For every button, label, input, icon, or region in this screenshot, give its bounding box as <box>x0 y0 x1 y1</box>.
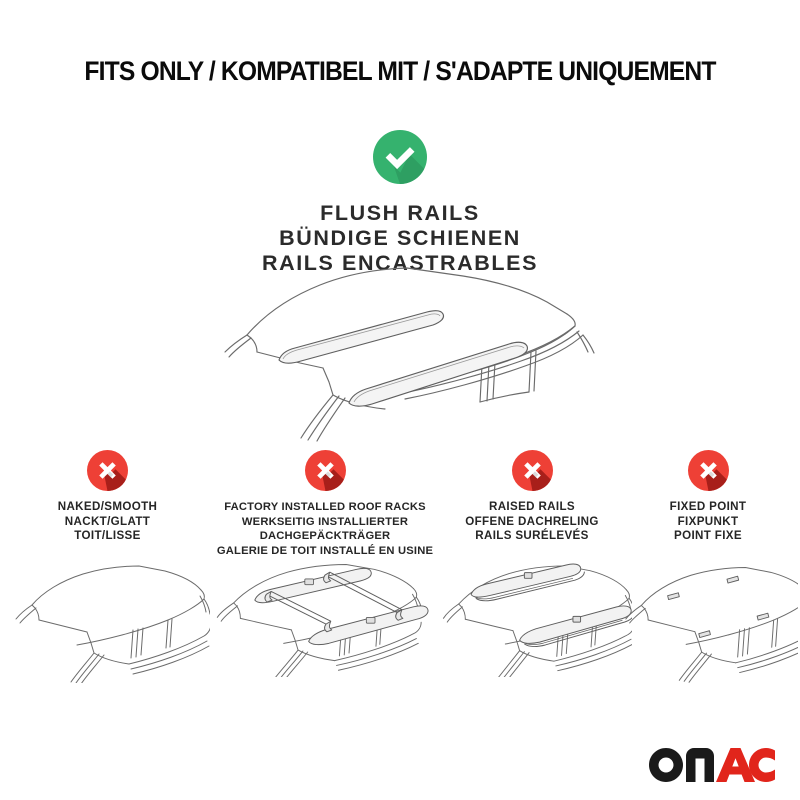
page-title: FITS ONLY / KOMPATIBEL MIT / S'ADAPTE UN… <box>28 56 772 87</box>
car-roof-naked-smooth-illustration <box>5 558 210 683</box>
infographic-page: FITS ONLY / KOMPATIBEL MIT / S'ADAPTE UN… <box>0 0 800 800</box>
compatible-label-de: BÜNDIGE SCHIENEN <box>0 226 800 251</box>
omac-logo: OMAC <box>648 747 776 783</box>
label-fr: TOIT/LISSE <box>5 529 210 544</box>
label-de: OFFENE DACHRELING <box>432 515 632 530</box>
incompatible-item-fixed-point: FIXED POINT FIXPUNKT POINT FIXE <box>618 450 798 544</box>
label-en: FACTORY INSTALLED ROOF RACKS <box>200 500 450 515</box>
incompatible-item-naked-smooth: NAKED/SMOOTH NACKT/GLATT TOIT/LISSE <box>5 450 210 544</box>
label-fr: RAILS SURÉLEVÉS <box>432 529 632 544</box>
label-en: RAISED RAILS <box>432 500 632 515</box>
incompatible-labels: FACTORY INSTALLED ROOF RACKS WERKSEITIG … <box>200 500 450 558</box>
label-de: NACKT/GLATT <box>5 515 210 530</box>
check-circle-icon <box>373 130 427 184</box>
compatible-label-en: FLUSH RAILS <box>0 201 800 226</box>
x-circle-icon <box>688 450 729 491</box>
car-roof-fixed-point-illustration <box>618 558 798 683</box>
incompatible-labels: NAKED/SMOOTH NACKT/GLATT TOIT/LISSE <box>5 500 210 544</box>
car-roof-factory-rack-illustration <box>200 552 450 677</box>
car-roof-raised-rails-illustration <box>432 552 632 677</box>
compatible-section: FLUSH RAILS BÜNDIGE SCHIENEN RAILS ENCAS… <box>0 130 800 276</box>
incompatible-labels: FIXED POINT FIXPUNKT POINT FIXE <box>618 500 798 544</box>
incompatible-section: NAKED/SMOOTH NACKT/GLATT TOIT/LISSE <box>0 450 800 690</box>
label-de-1: WERKSEITIG INSTALLIERTER <box>200 515 450 530</box>
car-roof-flush-rails-illustration <box>195 262 625 452</box>
label-de-2: DACHGEPÄCKTRÄGER <box>200 529 450 544</box>
incompatible-labels: RAISED RAILS OFFENE DACHRELING RAILS SUR… <box>432 500 632 544</box>
label-en: FIXED POINT <box>618 500 798 515</box>
x-circle-icon <box>305 450 346 491</box>
x-circle-icon <box>87 450 128 491</box>
x-circle-icon <box>512 450 553 491</box>
incompatible-item-factory-rack: FACTORY INSTALLED ROOF RACKS WERKSEITIG … <box>200 450 450 558</box>
label-en: NAKED/SMOOTH <box>5 500 210 515</box>
incompatible-item-raised-rails: RAISED RAILS OFFENE DACHRELING RAILS SUR… <box>432 450 632 544</box>
label-fr: POINT FIXE <box>618 529 798 544</box>
label-de: FIXPUNKT <box>618 515 798 530</box>
